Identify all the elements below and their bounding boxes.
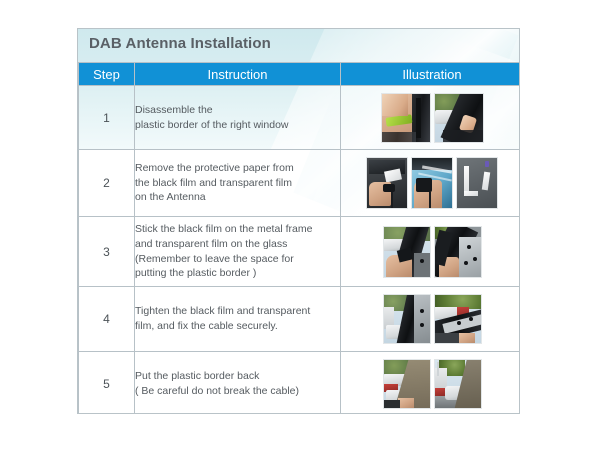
step-illustration xyxy=(341,287,521,352)
instruction-line: film, and fix the cable securely. xyxy=(135,319,340,334)
step-illustration xyxy=(341,217,521,287)
table-row: 4 Tighten the black film and transparent… xyxy=(79,287,521,352)
photo-strip xyxy=(341,226,520,278)
table-header: Step Instruction Illustration xyxy=(79,63,521,86)
illustration-photo xyxy=(411,157,453,209)
illustration-photo xyxy=(381,93,431,143)
illustration-photo xyxy=(383,359,431,409)
photo-strip xyxy=(341,294,520,344)
illustration-photo xyxy=(434,359,482,409)
instruction-line: and transparent film on the glass xyxy=(135,237,340,252)
step-number: 3 xyxy=(79,217,135,287)
photo-strip xyxy=(341,157,520,209)
card-title-band: DAB Antenna Installation xyxy=(78,29,520,62)
column-header-instruction: Instruction xyxy=(135,63,341,86)
instruction-line: Remove the protective paper from xyxy=(135,161,340,176)
instruction-line: ( Be careful do not break the cable) xyxy=(135,384,340,399)
instruction-line: (Remember to leave the space for xyxy=(135,252,340,267)
step-instruction: Remove the protective paper from the bla… xyxy=(135,150,341,217)
table-row: 3 Stick the black film on the metal fram… xyxy=(79,217,521,287)
step-instruction: Tighten the black film and transparent f… xyxy=(135,287,341,352)
step-number: 1 xyxy=(79,86,135,150)
illustration-photo xyxy=(383,226,431,278)
instruction-line: the black film and transparent film xyxy=(135,176,340,191)
instruction-line: on the Antenna xyxy=(135,190,340,205)
installation-card: DAB Antenna Installation Step Instructio… xyxy=(77,28,520,414)
page-title: DAB Antenna Installation xyxy=(89,35,271,52)
instruction-line: putting the plastic border ) xyxy=(135,266,340,281)
step-number: 4 xyxy=(79,287,135,352)
illustration-photo xyxy=(456,157,498,209)
step-instruction: Stick the black film on the metal frame … xyxy=(135,217,341,287)
step-illustration xyxy=(341,352,521,415)
illustration-photo xyxy=(383,294,431,344)
step-illustration xyxy=(341,86,521,150)
step-number: 2 xyxy=(79,150,135,217)
illustration-photo xyxy=(434,93,484,143)
instruction-line: Put the plastic border back xyxy=(135,369,340,384)
table-row: 2 Remove the protective paper from the b… xyxy=(79,150,521,217)
column-header-step: Step xyxy=(79,63,135,86)
illustration-photo xyxy=(366,157,408,209)
table-body: 1 Disassemble the plastic border of the … xyxy=(79,86,521,415)
page-canvas: DAB Antenna Installation Step Instructio… xyxy=(0,0,600,450)
step-instruction: Disassemble the plastic border of the ri… xyxy=(135,86,341,150)
table-header-row: Step Instruction Illustration xyxy=(79,63,521,86)
illustration-photo xyxy=(434,294,482,344)
step-instruction: Put the plastic border back ( Be careful… xyxy=(135,352,341,415)
step-number: 5 xyxy=(79,352,135,415)
installation-steps-table: Step Instruction Illustration 1 Disassem… xyxy=(78,62,520,414)
table-row: 5 Put the plastic border back ( Be caref… xyxy=(79,352,521,415)
step-illustration xyxy=(341,150,521,217)
instruction-line: Stick the black film on the metal frame xyxy=(135,222,340,237)
illustration-photo xyxy=(434,226,482,278)
photo-strip xyxy=(341,93,520,143)
instruction-line: plastic border of the right window xyxy=(135,118,340,133)
photo-strip xyxy=(341,359,520,409)
instruction-line: Tighten the black film and transparent xyxy=(135,304,340,319)
instruction-line: Disassemble the xyxy=(135,103,340,118)
column-header-illustration: Illustration xyxy=(341,63,521,86)
table-row: 1 Disassemble the plastic border of the … xyxy=(79,86,521,150)
